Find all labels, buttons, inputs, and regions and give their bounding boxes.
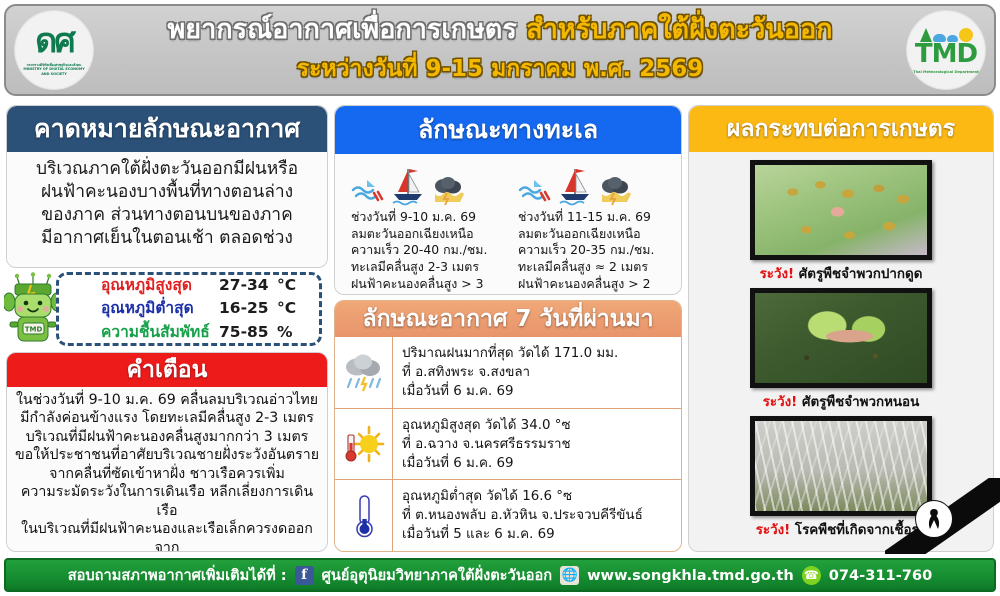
tmd-logo-word: TMD: [915, 42, 977, 67]
list-item: ระวัง! โรคพืชที่เกิดจากเชื้อรา: [689, 416, 993, 540]
metric-value-max-temp: 27-34: [219, 274, 277, 298]
warning-text: ในช่วงวันที่ 9-10 ม.ค. 69 คลื่นลมบริเวณอ…: [7, 387, 327, 552]
marine-details-1: ช่วงวันที่ 9-10 ม.ค. 69 ลมตะวันออกเฉียงเ…: [351, 209, 508, 295]
marine-details-2: ช่วงวันที่ 11-15 ม.ค. 69 ลมตะวันออกเฉียง…: [518, 209, 675, 295]
marine-wave-1: ทะเลมีคลื่นสูง 2-3 เมตร: [351, 259, 508, 276]
page-header: ดศ กระทรวงดิจิทัลเพื่อเศรษฐกิจและสังคม M…: [4, 4, 996, 96]
warning-line-3: บริเวณที่มีฝนฟ้าคะนองคลื่นสูงมากกว่า 3 เ…: [12, 428, 322, 446]
marine-period-2: ช่วงวันที่ 11-15 ม.ค. 69 ลมตะวันออกเฉียง…: [508, 162, 675, 294]
past-7-days-panel: ลักษณะอากาศ 7 วันที่ผ่านมา: [334, 300, 682, 552]
metric-label-min-temp: อุณหภูมิต่ำสุด: [101, 297, 219, 321]
sun-thermometer-icon: [342, 423, 386, 465]
list-item: ระวัง! ศัตรูพืชจำพวกหนอน: [689, 288, 993, 412]
marine-period-1: ช่วงวันที่ 9-10 ม.ค. 69 ลมตะวันออกเฉียงเ…: [341, 162, 508, 294]
metric-value-humidity: 75-85: [219, 321, 277, 345]
past-7-days-heading: ลักษณะอากาศ 7 วันที่ผ่านมา: [335, 301, 681, 337]
metric-row-humidity: ความชื้นสัมพัทธ์ 75-85 %: [101, 321, 319, 345]
warning-line-1: ในช่วงวันที่ 9-10 ม.ค. 69 คลื่นลมบริเวณอ…: [12, 391, 322, 409]
marine-period-label-2: ช่วงวันที่ 11-15 ม.ค. 69: [518, 209, 675, 226]
tmd-logo: TMD Thai Meteorological Department: [906, 10, 986, 90]
alert-label-2: ระวัง!: [763, 395, 798, 410]
tmd-mascot: TMD: [4, 272, 62, 346]
forecast-text: บริเวณภาคใต้ฝั่งตะวันออกมีฝนหรือ ฝนฟ้าคะ…: [7, 152, 327, 268]
footer-website[interactable]: www.songkhla.tmd.go.th: [587, 567, 794, 584]
agri-caption-text-2: ศัตรูพืชจำพวกหนอน: [797, 395, 919, 410]
fungal-disease-rubber-trees-photo: [750, 416, 932, 516]
warning-line-4: ขอให้ประชาชนที่อาศัยบริเวณชายฝั่งระวังอั…: [12, 446, 322, 464]
forecast-line-4: มีอากาศเย็นในตอนเช้า ตลอดช่วง: [13, 227, 321, 250]
photo-artwork: [755, 165, 927, 255]
table-row: อุณหภูมิต่ำสุด วัดได้ 16.6 °ซ ที่ ต.หนอง…: [335, 480, 681, 551]
metric-label-max-temp: อุณหภูมิสูงสุด: [101, 274, 219, 298]
marine-panel: ลักษณะทางทะเล: [334, 105, 682, 295]
forecast-line-2: ฝนฟ้าคะนองบางพื้นที่ทางตอนล่าง: [13, 181, 321, 204]
agri-caption-2: ระวัง! ศัตรูพืชจำพวกหนอน: [689, 391, 993, 412]
temp-min-line-2: ที่ ต.หนองพลับ อ.หัวหิน จ.ประจวบคีรีขันธ…: [402, 506, 681, 525]
marine-wind-dir-1: ลมตะวันออกเฉียงเหนือ: [351, 226, 508, 243]
marine-storm-wave-1: ฝนฟ้าคะนองคลื่นสูง > 3 เมตร: [351, 276, 508, 295]
page-title-main: พยากรณ์อากาศเพื่อการเกษตร: [167, 14, 516, 45]
page-title-region: สำหรับภาคใต้ฝั่งตะวันออก: [526, 14, 832, 45]
rain-max-line-3: เมื่อวันที่ 6 ม.ค. 69: [402, 382, 681, 401]
metric-value-min-temp: 16-25: [219, 297, 277, 321]
rain-cloud-icon: [342, 351, 386, 393]
marine-period-label-1: ช่วงวันที่ 9-10 ม.ค. 69: [351, 209, 508, 226]
temp-min-line-3: เมื่อวันที่ 5 และ 6 ม.ค. 69: [402, 525, 681, 544]
row-text-cell-3: อุณหภูมิต่ำสุด วัดได้ 16.6 °ซ ที่ ต.หนอง…: [393, 480, 681, 551]
forecast-panel: คาดหมายลักษณะอากาศ บริเวณภาคใต้ฝั่งตะวัน…: [6, 105, 328, 268]
phone-icon: ☎: [802, 566, 821, 585]
facebook-icon[interactable]: f: [295, 566, 314, 585]
sailboat-warning-flag-icon: [559, 166, 591, 206]
row-icon-cell-3: [335, 480, 393, 551]
past-7-days-table: ปริมาณฝนมากที่สุด วัดได้ 171.0 มม. ที่ อ…: [335, 337, 681, 551]
temp-max-line-1: อุณหภูมิสูงสุด วัดได้ 34.0 °ซ: [402, 416, 681, 435]
warning-panel-heading: คำเตือน: [7, 353, 327, 387]
page-footer: สอบถามสภาพอากาศเพิ่มเติมได้ที่ : f ศูนย์…: [4, 558, 996, 592]
photo-artwork: [755, 293, 927, 383]
wind-waves-icon: [518, 176, 552, 206]
footer-facebook-label[interactable]: ศูนย์อุตุนิยมวิทยาภาคใต้ฝั่งตะวันออก: [322, 564, 552, 587]
row-text-cell-1: ปริมาณฝนมากที่สุด วัดได้ 171.0 มม. ที่ อ…: [393, 337, 681, 408]
header-titles: พยากรณ์อากาศเพื่อการเกษตร สำหรับภาคใต้ฝั…: [94, 13, 906, 87]
ministry-logo-glyph: ดศ: [35, 24, 73, 58]
forecast-panel-heading: คาดหมายลักษณะอากาศ: [7, 106, 327, 152]
warning-line-6: ความระมัดระวังในการเดินเรือ หลีกเลี่ยงกา…: [12, 483, 322, 520]
tmd-logo-subtitle: Thai Meteorological Department: [908, 70, 984, 74]
rain-max-line-1: ปริมาณฝนมากที่สุด วัดได้ 171.0 มม.: [402, 344, 681, 363]
metric-row-max-temp: อุณหภูมิสูงสุด 27-34 °C: [101, 274, 319, 298]
metric-unit-max-temp: °C: [277, 274, 296, 298]
thunderstorm-cloud-icon: [598, 174, 632, 206]
marine-storm-wave-2: ฝนฟ้าคะนองคลื่นสูง > 2 เมตร: [518, 276, 675, 295]
caterpillar-on-plant-photo: [750, 288, 932, 388]
temperature-metrics-box: อุณหภูมิสูงสุด 27-34 °C อุณหภูมิต่ำสุด 1…: [56, 272, 322, 346]
alert-label-1: ระวัง!: [760, 267, 795, 282]
agri-caption-text-1: ศัตรูพืชจำพวกปากดูด: [794, 267, 922, 282]
agri-caption-3: ระวัง! โรคพืชที่เกิดจากเชื้อรา: [689, 519, 993, 540]
forecast-line-3: ของภาค ส่วนทางตอนบนของภาค: [13, 204, 321, 227]
page-title: พยากรณ์อากาศเพื่อการเกษตร สำหรับภาคใต้ฝั…: [98, 13, 902, 47]
svg-text:TMD: TMD: [25, 326, 43, 334]
marine-wave-2: ทะเลมีคลื่นสูง ≈ 2 เมตร: [518, 259, 675, 276]
marine-icons-2: [518, 162, 675, 206]
aphid-pests-on-leaf-photo: [750, 160, 932, 260]
row-icon-cell-1: [335, 337, 393, 408]
forecast-line-1: บริเวณภาคใต้ฝั่งตะวันออกมีฝนหรือ: [13, 158, 321, 181]
agriculture-items: ระวัง! ศัตรูพืชจำพวกปากดูด ระวัง! ศัตรูพ…: [689, 152, 993, 551]
temp-max-line-2: ที่ อ.ฉวาง จ.นครศรีธรรมราช: [402, 435, 681, 454]
alert-label-3: ระวัง!: [756, 523, 791, 538]
photo-artwork: [755, 421, 927, 511]
footer-intro: สอบถามสภาพอากาศเพิ่มเติมได้ที่ :: [68, 564, 287, 587]
warning-panel: คำเตือน ในช่วงวันที่ 9-10 ม.ค. 69 คลื่นล…: [6, 352, 328, 552]
globe-icon: 🌐: [560, 566, 579, 585]
agri-caption-1: ระวัง! ศัตรูพืชจำพวกปากดูด: [689, 263, 993, 284]
agriculture-impact-panel: ผลกระทบต่อการเกษตร ระวัง! ศัตรูพืชจำพวกป…: [688, 105, 994, 552]
row-text-cell-2: อุณหภูมิสูงสุด วัดได้ 34.0 °ซ ที่ อ.ฉวาง…: [393, 409, 681, 480]
ministry-logo: ดศ กระทรวงดิจิทัลเพื่อเศรษฐกิจและสังคม M…: [14, 10, 94, 90]
agriculture-panel-heading: ผลกระทบต่อการเกษตร: [689, 106, 993, 152]
list-item: ระวัง! ศัตรูพืชจำพวกปากดูด: [689, 160, 993, 284]
warning-line-5: จากคลื่นที่ซัดเข้าหาฝั่ง ชาวเรือควรเพิ่ม: [12, 465, 322, 483]
page-title-daterange: ระหว่างวันที่ 9-15 มกราคม พ.ศ. 2569: [98, 51, 902, 87]
infographic-page: ดศ กระทรวงดิจิทัลเพื่อเศรษฐกิจและสังคม M…: [0, 0, 1000, 596]
thermometer-icon: [352, 493, 376, 539]
metric-unit-min-temp: °C: [277, 297, 296, 321]
table-row: ปริมาณฝนมากที่สุด วัดได้ 171.0 มม. ที่ อ…: [335, 337, 681, 409]
sailboat-warning-flag-icon: [392, 166, 424, 206]
row-icon-cell-2: [335, 409, 393, 480]
footer-phone[interactable]: 074-311-760: [829, 567, 933, 584]
warning-line-2: มีกำลังค่อนข้างแรง โดยทะเลมีคลื่นสูง 2-3…: [12, 409, 322, 427]
metric-label-humidity: ความชื้นสัมพัทธ์: [101, 321, 219, 345]
marine-icons-1: [351, 162, 508, 206]
metric-row-min-temp: อุณหภูมิต่ำสุด 16-25 °C: [101, 297, 319, 321]
metric-unit-humidity: %: [277, 321, 293, 345]
thunderstorm-cloud-icon: [431, 174, 465, 206]
temp-max-line-3: เมื่อวันที่ 6 ม.ค. 69: [402, 454, 681, 473]
table-row: อุณหภูมิสูงสุด วัดได้ 34.0 °ซ ที่ อ.ฉวาง…: [335, 409, 681, 481]
warning-line-7: ในบริเวณที่มีฝนฟ้าคะนองและเรือเล็กควรงดอ…: [12, 520, 322, 552]
marine-wind-speed-2: ความเร็ว 20-35 กม./ชม.: [518, 242, 675, 259]
marine-panel-heading: ลักษณะทางทะเล: [335, 106, 681, 154]
agri-caption-text-3: โรคพืชที่เกิดจากเชื้อรา: [790, 523, 926, 538]
marine-wind-speed-1: ความเร็ว 20-40 กม./ชม.: [351, 242, 508, 259]
temp-min-line-1: อุณหภูมิต่ำสุด วัดได้ 16.6 °ซ: [402, 487, 681, 506]
rain-max-line-2: ที่ อ.สทิงพระ จ.สงขลา: [402, 363, 681, 382]
marine-wind-dir-2: ลมตะวันออกเฉียงเหนือ: [518, 226, 675, 243]
marine-columns: ช่วงวันที่ 9-10 ม.ค. 69 ลมตะวันออกเฉียงเ…: [335, 154, 681, 294]
wind-waves-icon: [351, 176, 385, 206]
ministry-logo-subtitle: กระทรวงดิจิทัลเพื่อเศรษฐกิจและสังคม MINI…: [19, 63, 89, 76]
